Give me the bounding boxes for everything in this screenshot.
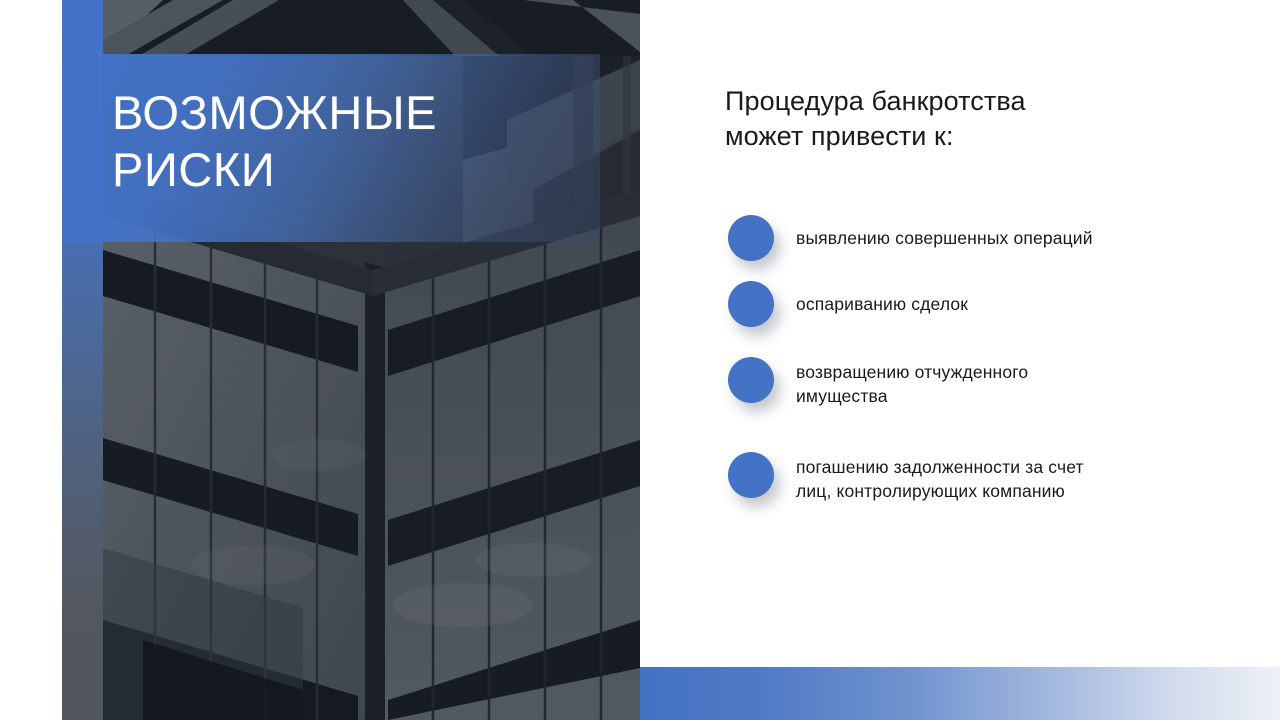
content-area: Процедура банкротства может привести к: … (640, 0, 1280, 720)
bullet-label: возвращению отчужденного имущества (796, 360, 1280, 408)
slide-canvas: ВОЗМОЖНЫЕ РИСКИ Процедура банкротства мо… (0, 0, 1280, 720)
bullet-label: выявлению совершенных операций (796, 226, 1280, 250)
bullet-label: погашению задолженности за счет лиц, кон… (796, 455, 1280, 503)
content-heading: Процедура банкротства может привести к: (725, 84, 1185, 154)
bullet-dot-icon (728, 281, 774, 327)
list-item: возвращению отчужденного имущества (640, 357, 1280, 408)
bullet-label: оспариванию сделок (796, 292, 1280, 316)
bottom-accent-bar (640, 667, 1280, 720)
title-overlay-box: ВОЗМОЖНЫЕ РИСКИ (62, 54, 600, 242)
slide-title: ВОЗМОЖНЫЕ РИСКИ (112, 84, 592, 199)
bullet-dot-icon (728, 357, 774, 403)
list-item: погашению задолженности за счет лиц, кон… (640, 452, 1280, 503)
list-item: выявлению совершенных операций (640, 215, 1280, 261)
list-item: оспариванию сделок (640, 281, 1280, 327)
bullet-dot-icon (728, 452, 774, 498)
bullet-list: выявлению совершенных операций оспариван… (640, 205, 1280, 504)
bullet-dot-icon (728, 215, 774, 261)
